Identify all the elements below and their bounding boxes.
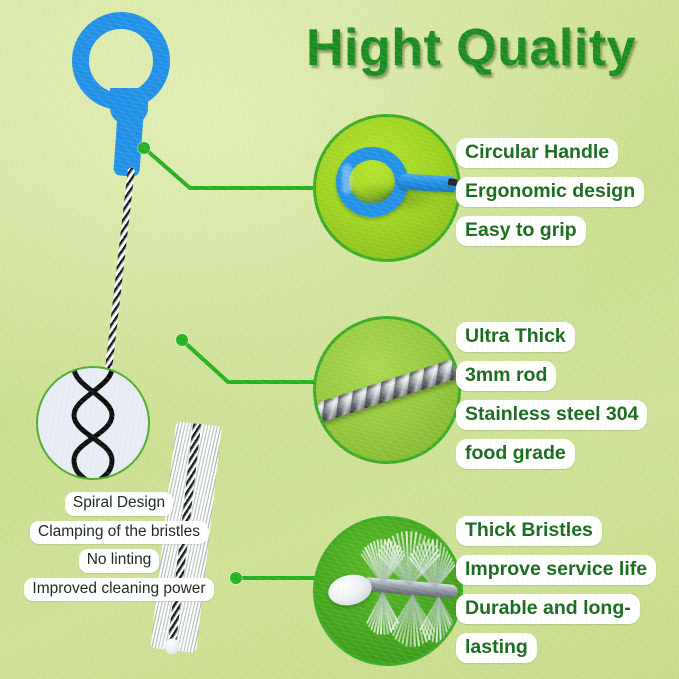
spiral-line: Spiral Design: [65, 492, 173, 516]
brush-rounded-tip: [164, 638, 181, 656]
spiral-line: No linting: [79, 549, 160, 573]
callout-line: Ergonomic design: [456, 177, 644, 207]
callout-line: Improve service life: [456, 555, 656, 585]
callout-line: Easy to grip: [456, 216, 586, 246]
callout-line: food grade: [456, 439, 575, 469]
product-handle-shoulder: [110, 88, 148, 124]
anchor-dot-rod: [176, 334, 188, 346]
handle-closeup-icon: [313, 114, 461, 262]
callout-line: Stainless steel 304: [456, 400, 647, 430]
product-infographic: Hight Quality Circular Handle Ergonomic …: [0, 0, 679, 679]
product-handle-ring-icon: [72, 12, 170, 110]
callout-circular-handle: Circular Handle Ergonomic design Easy to…: [456, 138, 644, 246]
callout-line: Ultra Thick: [456, 322, 575, 352]
product-handle-neck: [113, 95, 145, 177]
spiral-line: Clamping of the bristles: [30, 521, 208, 545]
twisted-rod-closeup-icon: [313, 316, 461, 464]
callout-ultra-thick-rod: Ultra Thick 3mm rod Stainless steel 304 …: [456, 322, 647, 469]
anchor-dot-handle: [138, 142, 150, 154]
bristles-closeup-icon: [313, 516, 463, 666]
spiral-feature-text: Spiral Design Clamping of the bristles N…: [0, 492, 238, 601]
callout-thick-bristles: Thick Bristles Improve service life Dura…: [456, 516, 656, 663]
callout-line: lasting: [456, 633, 537, 663]
page-title: Hight Quality: [306, 18, 676, 78]
spiral-line: Improved cleaning power: [24, 578, 213, 602]
spiral-wire-diagram-icon: [36, 366, 150, 480]
callout-line: Circular Handle: [456, 138, 618, 168]
callout-line: Thick Bristles: [456, 516, 602, 546]
callout-line: Durable and long-: [456, 594, 640, 624]
callout-line: 3mm rod: [456, 361, 556, 391]
